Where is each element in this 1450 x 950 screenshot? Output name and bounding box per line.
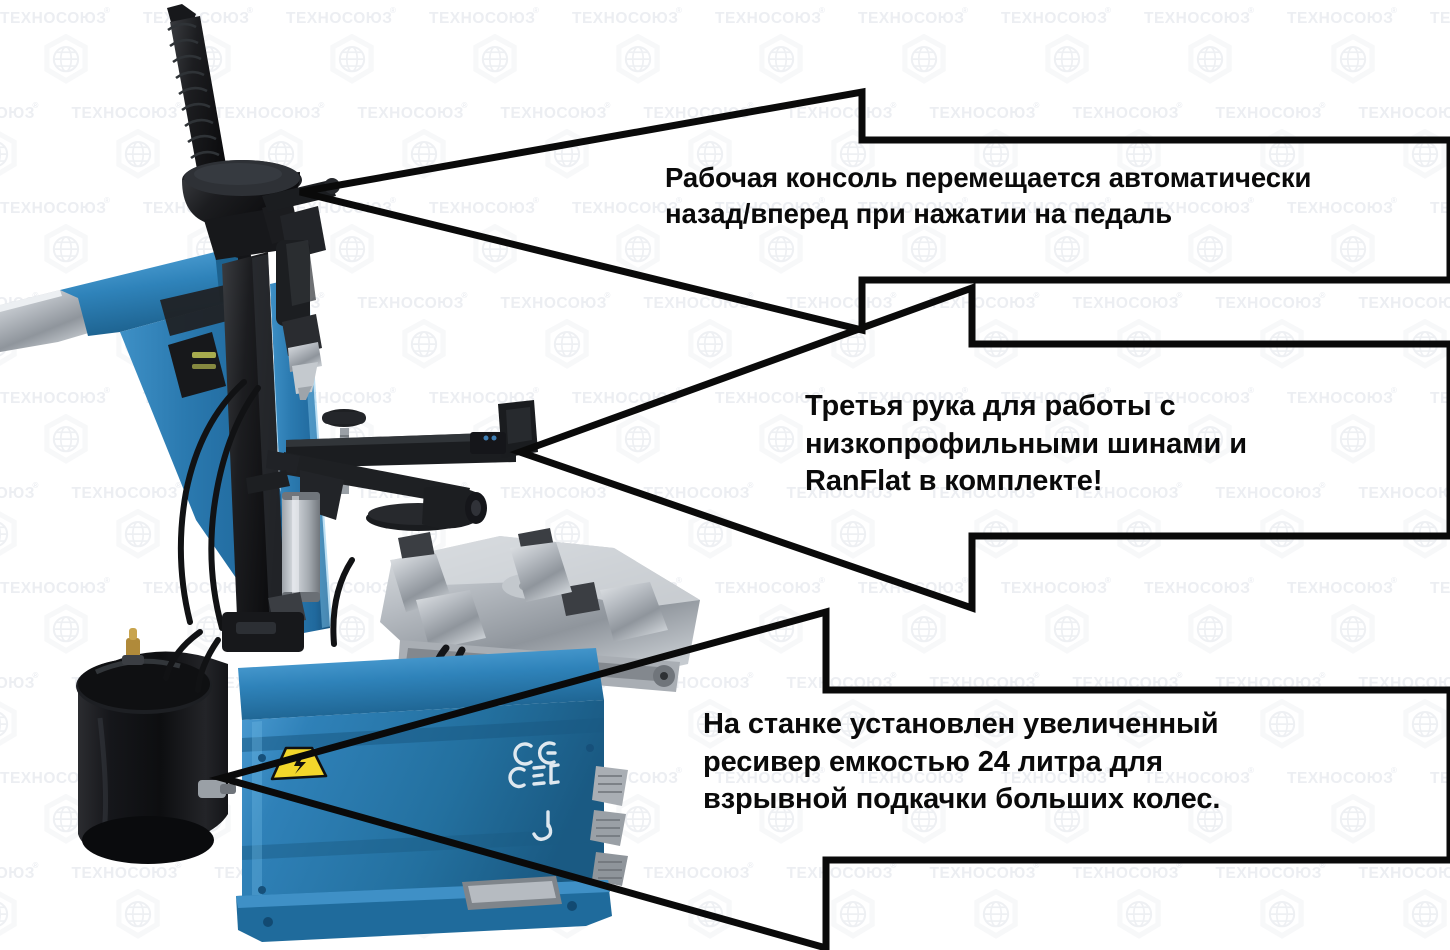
watermark-globe-icon: [1041, 604, 1093, 656]
globe-in-hexagon-icon: [970, 509, 1022, 561]
watermark-tile: ТЕХНОСОЮЗ®: [1430, 380, 1450, 475]
watermark-text: ТЕХНОСОЮЗ: [1216, 865, 1322, 883]
watermark-registered-mark: ®: [1248, 6, 1254, 15]
watermark-tile: ТЕХНОСОЮЗ®: [930, 285, 1073, 380]
callout-third-arm-text: Третья рука для работы с низкопрофильным…: [805, 388, 1365, 501]
globe-in-hexagon-icon: [755, 604, 807, 656]
globe-in-hexagon-icon: [1113, 509, 1165, 561]
watermark-tile: ТЕХНОСОЮЗ®: [1073, 285, 1216, 380]
watermark-tile: ТЕХНОСОЮЗ®: [1216, 855, 1359, 950]
watermark-globe-icon: [1399, 319, 1450, 371]
globe-in-hexagon-icon: [755, 414, 807, 466]
globe-in-hexagon-icon: [1113, 889, 1165, 941]
globe-in-hexagon-icon: [1184, 224, 1236, 276]
watermark-globe-icon: [1184, 34, 1236, 86]
globe-in-hexagon-icon: [1399, 699, 1450, 751]
watermark-text: ТЕХНОСОЮЗ: [1001, 10, 1107, 28]
machine-slide-rail: [0, 290, 92, 352]
globe-in-hexagon-icon: [898, 34, 950, 86]
globe-in-hexagon-icon: [1399, 509, 1450, 561]
globe-in-hexagon-icon: [827, 509, 879, 561]
watermark-globe-icon: [1113, 889, 1165, 941]
watermark-text: ТЕХНОСОЮЗ: [1430, 770, 1450, 788]
globe-in-hexagon-icon: [1256, 509, 1308, 561]
watermark-text: ТЕХНОСОЮЗ: [858, 10, 964, 28]
watermark-text: ТЕХНОСОЮЗ: [1430, 10, 1450, 28]
watermark-registered-mark: ®: [1034, 101, 1040, 110]
watermark-globe-icon: [1184, 224, 1236, 276]
watermark-tile: ТЕХНОСОЮЗ®: [1001, 570, 1144, 665]
watermark-text: ТЕХНОСОЮЗ: [1359, 485, 1450, 503]
globe-in-hexagon-icon: [1256, 319, 1308, 371]
watermark-tile: ТЕХНОСОЮЗ®: [930, 855, 1073, 950]
watermark-text: ТЕХНОСОЮЗ: [1073, 295, 1179, 313]
watermark-globe-icon: [755, 604, 807, 656]
globe-in-hexagon-icon: [1184, 34, 1236, 86]
watermark-tile: ТЕХНОСОЮЗ®: [1216, 285, 1359, 380]
watermark-text: ТЕХНОСОЮЗ: [787, 865, 893, 883]
globe-in-hexagon-icon: [1184, 604, 1236, 656]
watermark-text: ТЕХНОСОЮЗ: [787, 675, 893, 693]
watermark-globe-icon: [1399, 699, 1450, 751]
watermark-globe-icon: [970, 889, 1022, 941]
watermark-text: ТЕХНОСОЮЗ: [1359, 675, 1450, 693]
watermark-registered-mark: ®: [891, 861, 897, 870]
watermark-tile: ТЕХНОСОЮЗ®: [1001, 0, 1144, 95]
watermark-registered-mark: ®: [1177, 671, 1183, 680]
globe-in-hexagon-icon: [1113, 319, 1165, 371]
watermark-globe-icon: [898, 224, 950, 276]
watermark-globe-icon: [755, 224, 807, 276]
watermark-tile: ТЕХНОСОЮЗ®: [1430, 0, 1450, 95]
watermark-tile: ТЕХНОСОЮЗ®: [1359, 855, 1450, 950]
watermark-globe-icon: [1113, 319, 1165, 371]
watermark-globe-icon: [1327, 224, 1379, 276]
watermark-registered-mark: ®: [1320, 291, 1326, 300]
machine-air-receiver-tank: [76, 628, 236, 864]
machine-cabinet: [236, 648, 628, 942]
watermark-tile: ТЕХНОСОЮЗ®: [787, 285, 930, 380]
watermark-tile: ТЕХНОСОЮЗ®: [1287, 0, 1430, 95]
watermark-registered-mark: ®: [1391, 386, 1397, 395]
watermark-text: ТЕХНОСОЮЗ: [1287, 10, 1393, 28]
watermark-globe-icon: [1399, 509, 1450, 561]
watermark-text: ТЕХНОСОЮЗ: [787, 105, 893, 123]
watermark-globe-icon: [1041, 34, 1093, 86]
watermark-registered-mark: ®: [1391, 6, 1397, 15]
watermark-tile: ТЕХНОСОЮЗ®: [858, 570, 1001, 665]
watermark-registered-mark: ®: [1248, 576, 1254, 585]
watermark-tile: ТЕХНОСОЮЗ®: [1359, 285, 1450, 380]
watermark-registered-mark: ®: [1320, 101, 1326, 110]
watermark-text: ТЕХНОСОЮЗ: [1144, 580, 1250, 598]
callout-receiver-text: На станке установлен увеличенный ресивер…: [703, 706, 1363, 819]
watermark-registered-mark: ®: [1034, 291, 1040, 300]
watermark-globe-icon: [827, 319, 879, 371]
callout-console-text: Рабочая консоль перемещается автоматичес…: [665, 160, 1450, 232]
watermark-tile: ТЕХНОСОЮЗ®: [1430, 760, 1450, 855]
watermark-registered-mark: ®: [1391, 576, 1397, 585]
watermark-text: ТЕХНОСОЮЗ: [930, 865, 1036, 883]
globe-in-hexagon-icon: [898, 224, 950, 276]
watermark-tile: ТЕХНОСОЮЗ®: [1359, 475, 1450, 570]
watermark-globe-icon: [1256, 319, 1308, 371]
machine-pneumatic-cylinder: [282, 492, 320, 602]
globe-in-hexagon-icon: [1041, 34, 1093, 86]
watermark-text: ТЕХНОСОЮЗ: [1287, 580, 1393, 598]
watermark-text: ТЕХНОСОЮЗ: [1073, 675, 1179, 693]
watermark-text: ТЕХНОСОЮЗ: [930, 675, 1036, 693]
watermark-tile: ТЕХНОСОЮЗ®: [858, 0, 1001, 95]
globe-in-hexagon-icon: [1327, 34, 1379, 86]
watermark-text: ТЕХНОСОЮЗ: [787, 295, 893, 313]
watermark-registered-mark: ®: [819, 576, 825, 585]
watermark-text: ТЕХНОСОЮЗ: [1144, 10, 1250, 28]
watermark-globe-icon: [1041, 224, 1093, 276]
globe-in-hexagon-icon: [827, 889, 879, 941]
watermark-registered-mark: ®: [1105, 6, 1111, 15]
watermark-globe-icon: [1256, 509, 1308, 561]
watermark-text: ТЕХНОСОЮЗ: [1430, 580, 1450, 598]
watermark-text: ТЕХНОСОЮЗ: [1359, 865, 1450, 883]
globe-in-hexagon-icon: [1041, 224, 1093, 276]
watermark-text: ТЕХНОСОЮЗ: [1001, 580, 1107, 598]
globe-in-hexagon-icon: [1327, 604, 1379, 656]
watermark-registered-mark: ®: [1177, 291, 1183, 300]
globe-in-hexagon-icon: [755, 34, 807, 86]
globe-in-hexagon-icon: [970, 889, 1022, 941]
watermark-registered-mark: ®: [962, 576, 968, 585]
product-photo-canvas: ТЕХНОСОЮЗ®ТЕХНОСОЮЗ®ТЕХНОСОЮЗ®ТЕХНОСОЮЗ®…: [0, 0, 1450, 950]
watermark-globe-icon: [1184, 604, 1236, 656]
globe-in-hexagon-icon: [1399, 889, 1450, 941]
watermark-text: ТЕХНОСОЮЗ: [930, 105, 1036, 123]
watermark-registered-mark: ®: [1034, 861, 1040, 870]
watermark-tile: ТЕХНОСОЮЗ®: [787, 855, 930, 950]
watermark-registered-mark: ®: [891, 101, 897, 110]
watermark-globe-icon: [1399, 889, 1450, 941]
watermark-registered-mark: ®: [819, 6, 825, 15]
globe-in-hexagon-icon: [827, 319, 879, 371]
watermark-text: ТЕХНОСОЮЗ: [1216, 295, 1322, 313]
globe-in-hexagon-icon: [1041, 604, 1093, 656]
watermark-globe-icon: [755, 414, 807, 466]
machine-junction-box: [222, 612, 304, 652]
watermark-tile: ТЕХНОСОЮЗ®: [1144, 570, 1287, 665]
watermark-text: ТЕХНОСОЮЗ: [930, 295, 1036, 313]
globe-in-hexagon-icon: [970, 319, 1022, 371]
machine-foot-pedals: [590, 766, 628, 886]
watermark-globe-icon: [827, 509, 879, 561]
watermark-registered-mark: ®: [1177, 861, 1183, 870]
watermark-text: ТЕХНОСОЮЗ: [1216, 105, 1322, 123]
watermark-registered-mark: ®: [962, 6, 968, 15]
watermark-text: ТЕХНОСОЮЗ: [858, 580, 964, 598]
watermark-globe-icon: [970, 509, 1022, 561]
watermark-tile: ТЕХНОСОЮЗ®: [1430, 570, 1450, 665]
watermark-globe-icon: [1327, 34, 1379, 86]
watermark-globe-icon: [898, 604, 950, 656]
watermark-registered-mark: ®: [1177, 101, 1183, 110]
watermark-globe-icon: [1113, 509, 1165, 561]
watermark-registered-mark: ®: [891, 291, 897, 300]
globe-in-hexagon-icon: [755, 224, 807, 276]
watermark-text: ТЕХНОСОЮЗ: [1359, 295, 1450, 313]
globe-in-hexagon-icon: [1256, 889, 1308, 941]
watermark-registered-mark: ®: [1320, 671, 1326, 680]
watermark-globe-icon: [1327, 604, 1379, 656]
watermark-text: ТЕХНОСОЮЗ: [1216, 675, 1322, 693]
watermark-globe-icon: [898, 34, 950, 86]
watermark-registered-mark: ®: [891, 671, 897, 680]
watermark-registered-mark: ®: [1391, 766, 1397, 775]
globe-in-hexagon-icon: [898, 604, 950, 656]
globe-in-hexagon-icon: [1399, 319, 1450, 371]
watermark-tile: ТЕХНОСОЮЗ®: [1144, 0, 1287, 95]
watermark-globe-icon: [827, 889, 879, 941]
watermark-registered-mark: ®: [1105, 576, 1111, 585]
watermark-text: ТЕХНОСОЮЗ: [1430, 390, 1450, 408]
watermark-registered-mark: ®: [1320, 861, 1326, 870]
watermark-globe-icon: [970, 319, 1022, 371]
watermark-text: ТЕХНОСОЮЗ: [1359, 105, 1450, 123]
watermark-globe-icon: [755, 34, 807, 86]
watermark-text: ТЕХНОСОЮЗ: [1073, 865, 1179, 883]
watermark-globe-icon: [1256, 889, 1308, 941]
watermark-tile: ТЕХНОСОЮЗ®: [1359, 665, 1450, 760]
watermark-registered-mark: ®: [1034, 671, 1040, 680]
tire-changer-machine-illustration: [0, 0, 760, 950]
watermark-text: ТЕХНОСОЮЗ: [1073, 105, 1179, 123]
globe-in-hexagon-icon: [1327, 224, 1379, 276]
watermark-tile: ТЕХНОСОЮЗ®: [1073, 855, 1216, 950]
watermark-tile: ТЕХНОСОЮЗ®: [1287, 570, 1430, 665]
